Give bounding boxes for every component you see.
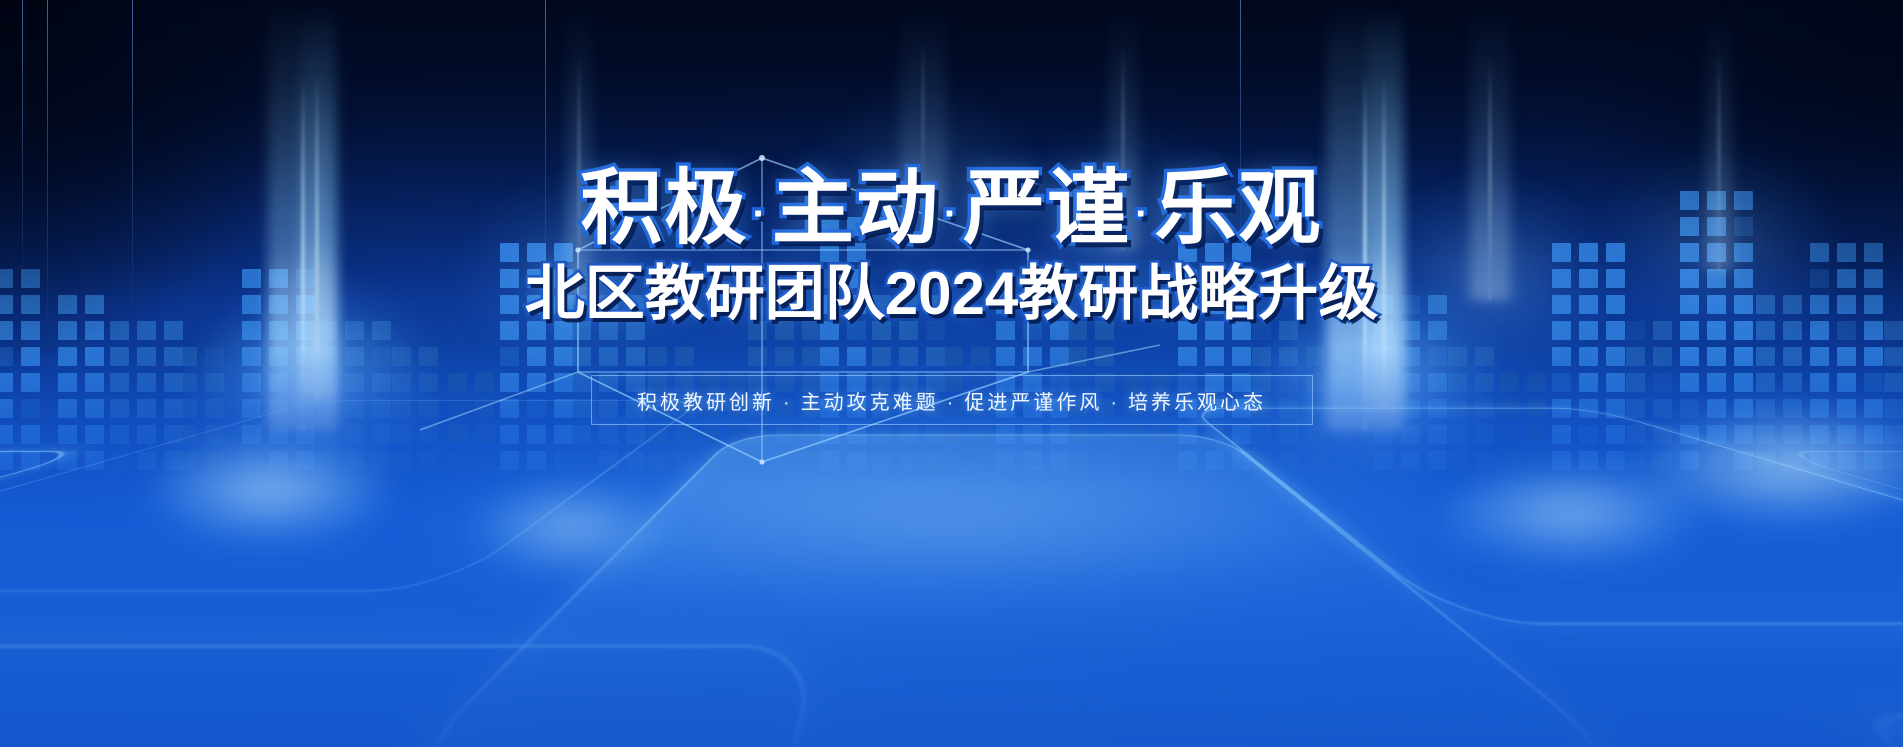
tagline-item-3: 促进严谨作风 <box>964 392 1102 414</box>
tagline-separator: · <box>947 392 957 414</box>
title-separator: · <box>944 192 959 236</box>
page-subtitle: 北区教研团队2024教研战略升级 <box>525 264 1378 324</box>
title-separator: · <box>1135 192 1150 236</box>
tagline-item-2: 主动攻克难题 <box>801 392 939 414</box>
tagline-item-4: 培养乐观心态 <box>1128 392 1266 414</box>
title-word-2: 主动 <box>772 163 940 254</box>
banner-stage: 积极·主动·严谨·乐观 北区教研团队2024教研战略升级 积极教研创新·主动攻克… <box>0 0 1903 747</box>
tagline-text: 积极教研创新·主动攻克难题·促进严谨作风·培养乐观心态 <box>637 386 1266 415</box>
tagline-separator: · <box>783 392 793 414</box>
tagline-separator: · <box>1110 392 1120 414</box>
page-title-main: 积极·主动·严谨·乐观 <box>580 168 1322 250</box>
title-word-1: 积极 <box>580 163 748 254</box>
title-word-3: 严谨 <box>963 163 1131 254</box>
banner-content: 积极·主动·严谨·乐观 北区教研团队2024教研战略升级 <box>0 0 1903 747</box>
tagline-item-1: 积极教研创新 <box>637 392 775 414</box>
tagline-frame: 积极教研创新·主动攻克难题·促进严谨作风·培养乐观心态 <box>591 375 1313 425</box>
title-word-4: 乐观 <box>1155 163 1323 254</box>
title-separator: · <box>752 192 767 236</box>
